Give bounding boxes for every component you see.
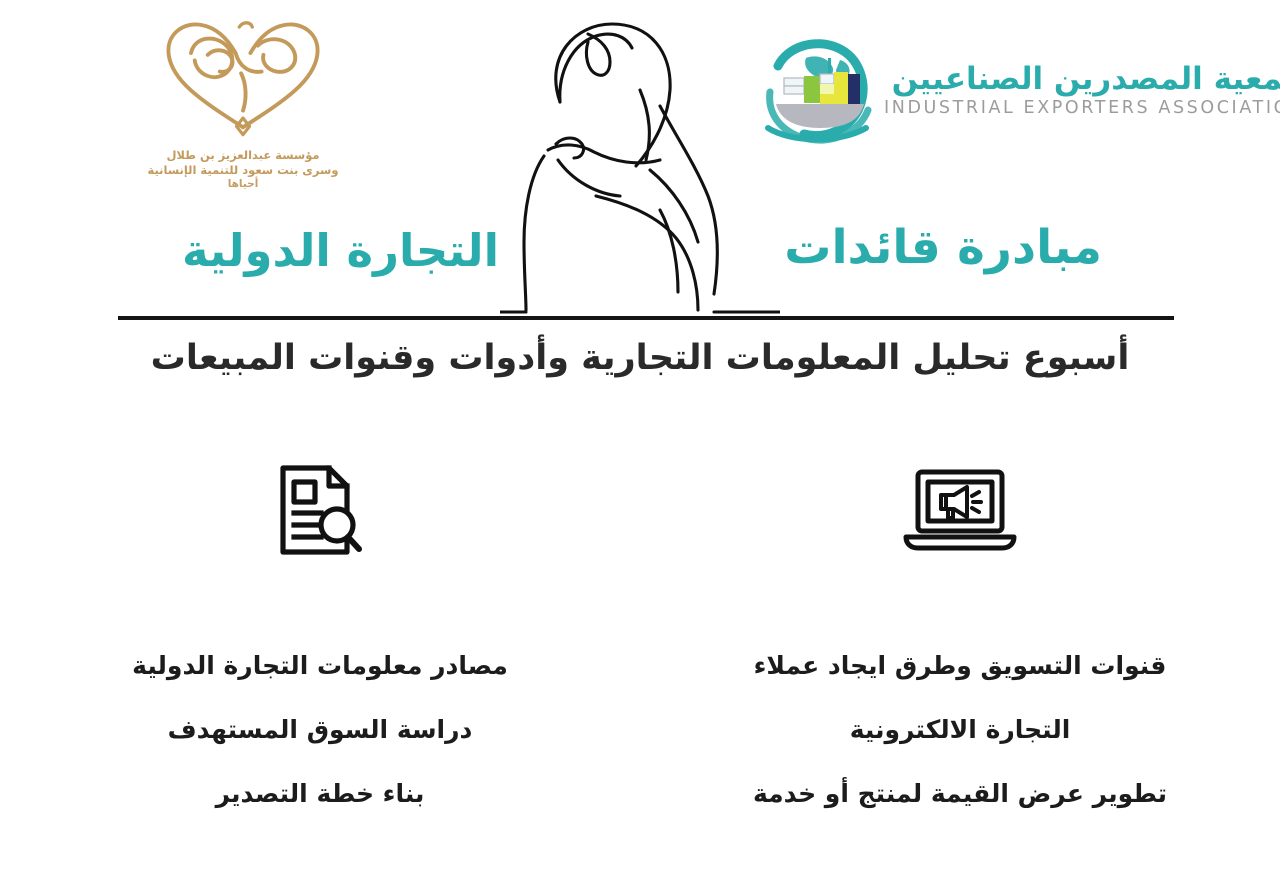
association-name-arabic: جمعية المصدرين الصناعيين (884, 62, 1280, 97)
initiative-title-right: مبادرة قائدات (784, 224, 1102, 271)
poster-subtitle: أسبوع تحليل المعلومات التجارية وأدوات وق… (0, 338, 1280, 378)
topic-item: مصادر معلومات التجارة الدولية (132, 653, 508, 678)
topic-item: التجارة الالكترونية (753, 717, 1167, 742)
initiative-title-left: التجارة الدولية (182, 228, 499, 273)
topic-column-sales-channels: قنوات التسويق وطرق ايجاد عملاء التجارة ا… (640, 455, 1280, 855)
poster-header: مؤسسة عبدالعزيز بن طلال وسرى بنت سعود لل… (0, 0, 1280, 320)
cargo-ship-globe-badge-icon (754, 30, 878, 154)
topic-item-list: قنوات التسويق وطرق ايجاد عملاء التجارة ا… (753, 653, 1167, 845)
topic-item: تطوير عرض القيمة لمنتج أو خدمة (753, 781, 1167, 806)
topic-item: قنوات التسويق وطرق ايجاد عملاء (753, 653, 1167, 678)
sponsor-logo: مؤسسة عبدالعزيز بن طلال وسرى بنت سعود لل… (108, 14, 378, 210)
laptop-megaphone-icon (901, 467, 1019, 553)
header-divider (118, 316, 1174, 320)
poster-canvas: مؤسسة عبدالعزيز بن طلال وسرى بنت سعود لل… (0, 0, 1280, 888)
topic-item-list: مصادر معلومات التجارة الدولية دراسة السو… (132, 653, 508, 845)
sponsor-line-3: أحياها (108, 178, 378, 192)
topics-section: مصادر معلومات التجارة الدولية دراسة السو… (0, 455, 1280, 855)
topic-icon-wrapper (901, 455, 1019, 565)
sponsor-logo-text: مؤسسة عبدالعزيز بن طلال وسرى بنت سعود لل… (108, 148, 378, 192)
topic-item: بناء خطة التصدير (132, 781, 508, 806)
sponsor-line-2: وسرى بنت سعود للتنمية الإنسانية (108, 163, 378, 178)
topic-item: دراسة السوق المستهدف (132, 717, 508, 742)
sponsor-line-1: مؤسسة عبدالعزيز بن طلال (108, 148, 378, 163)
document-search-icon (277, 463, 363, 557)
association-name-english: INDUSTRIAL EXPORTERS ASSOCIATION (884, 98, 1280, 118)
topic-column-trade-information: مصادر معلومات التجارة الدولية دراسة السو… (0, 455, 640, 855)
association-wordmark: جمعية المصدرين الصناعيين INDUSTRIAL EXPO… (884, 62, 1280, 123)
topic-icon-wrapper (277, 455, 363, 565)
line-art-woman-hijab-icon (500, 10, 780, 330)
association-logo: جمعية المصدرين الصناعيين INDUSTRIAL EXPO… (754, 22, 1274, 162)
gold-heart-calligraphy-logo-icon (143, 14, 343, 144)
